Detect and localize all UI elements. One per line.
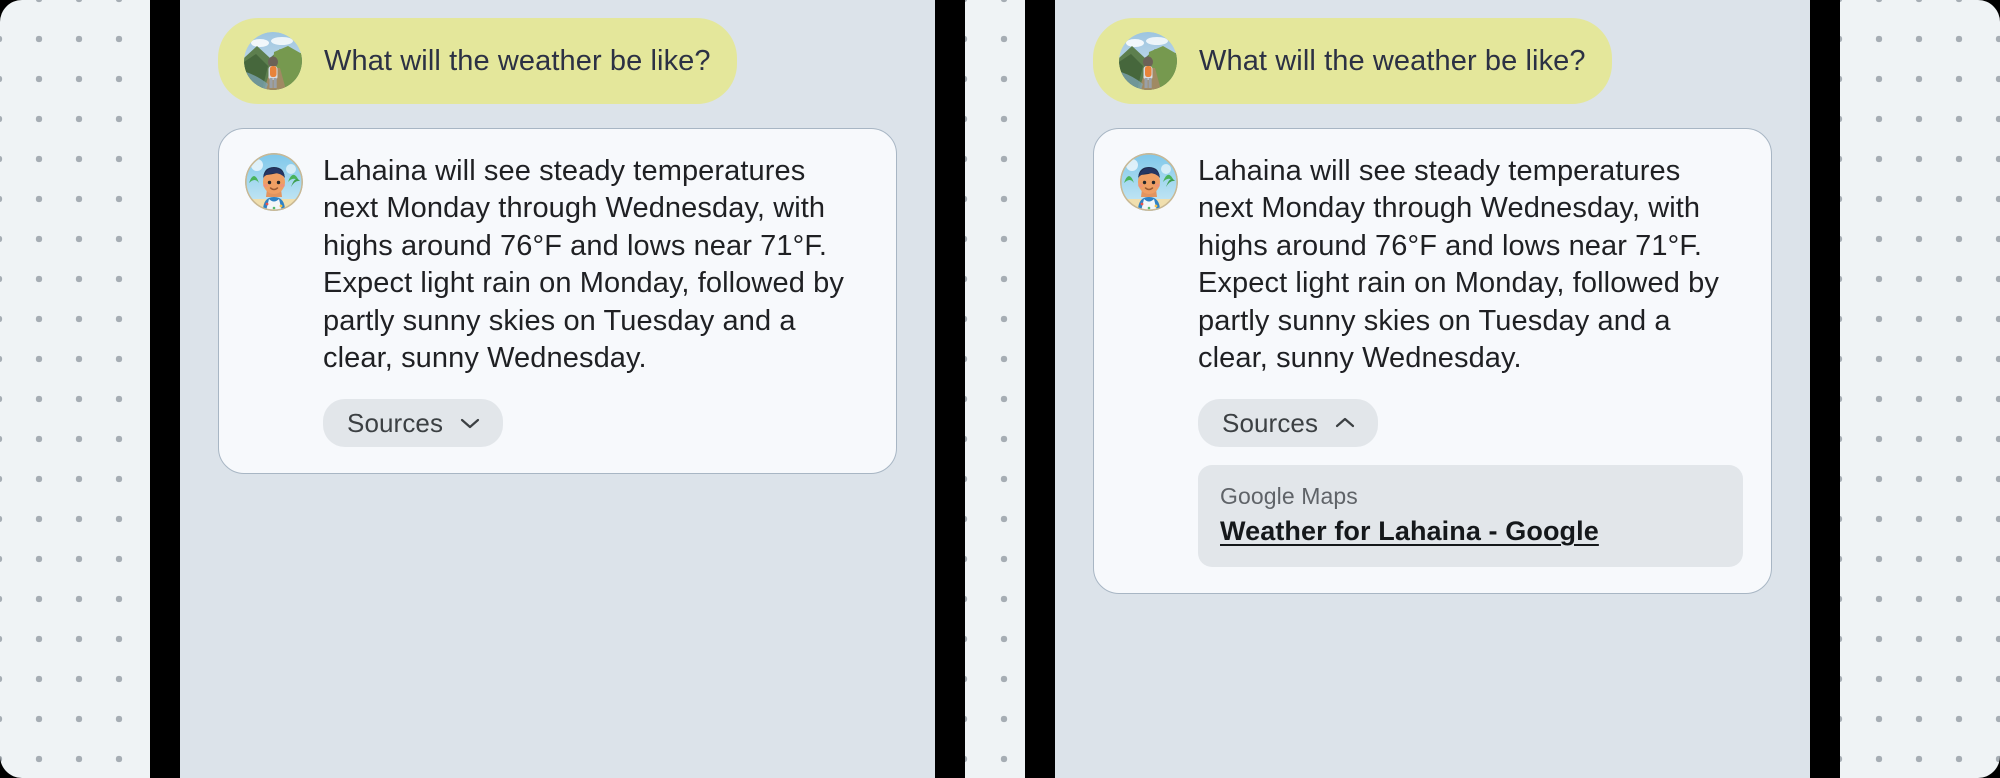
sources-toggle-button[interactable]: Sources	[323, 399, 503, 447]
user-message-bubble: What will the weather be like?	[1093, 18, 1612, 104]
assistant-body: Lahaina will see steady temperatures nex…	[323, 153, 868, 447]
user-message-bubble: What will the weather be like?	[218, 18, 737, 104]
assistant-body: Lahaina will see steady temperatures nex…	[1198, 153, 1743, 567]
assistant-message-bubble: Lahaina will see steady temperatures nex…	[1093, 128, 1772, 594]
panel-divider-mid-left	[935, 0, 965, 778]
source-card[interactable]: Google Maps Weather for Lahaina - Google	[1198, 465, 1743, 567]
dot-grid-gutter-middle	[965, 0, 1025, 778]
chevron-up-icon	[1334, 416, 1356, 430]
source-link[interactable]: Weather for Lahaina - Google	[1220, 516, 1599, 547]
source-site-name: Google Maps	[1220, 481, 1721, 512]
hiker-photo-avatar	[244, 32, 302, 90]
assistant-message-text: Lahaina will see steady temperatures nex…	[323, 153, 868, 377]
user-message-text: What will the weather be like?	[1199, 43, 1586, 79]
dot-grid-gutter-left	[0, 0, 150, 778]
screenshot-stage: What will the weather be like?	[0, 0, 2000, 778]
dot-grid-gutter-right	[1840, 0, 2000, 778]
hiker-photo-avatar	[1119, 32, 1177, 90]
conversation-panel-collapsed: What will the weather be like?	[180, 0, 935, 778]
illustrated-person-avatar	[245, 153, 303, 211]
user-message-text: What will the weather be like?	[324, 43, 711, 79]
conversation-panel-expanded: What will the weather be like?	[1055, 0, 1810, 778]
sources-row: Sources	[1198, 399, 1743, 447]
panel-divider-right	[1810, 0, 1840, 778]
panel-divider-mid-right	[1025, 0, 1055, 778]
sources-button-label: Sources	[1222, 410, 1318, 436]
assistant-message-text: Lahaina will see steady temperatures nex…	[1198, 153, 1743, 377]
sources-toggle-button[interactable]: Sources	[1198, 399, 1378, 447]
chevron-down-icon	[459, 416, 481, 430]
sources-button-label: Sources	[347, 410, 443, 436]
assistant-message-bubble: Lahaina will see steady temperatures nex…	[218, 128, 897, 474]
panel-divider-left	[150, 0, 180, 778]
sources-row: Sources	[323, 399, 868, 447]
illustrated-person-avatar	[1120, 153, 1178, 211]
chat-thread: What will the weather be like?	[218, 18, 897, 474]
chat-thread: What will the weather be like?	[1093, 18, 1772, 594]
